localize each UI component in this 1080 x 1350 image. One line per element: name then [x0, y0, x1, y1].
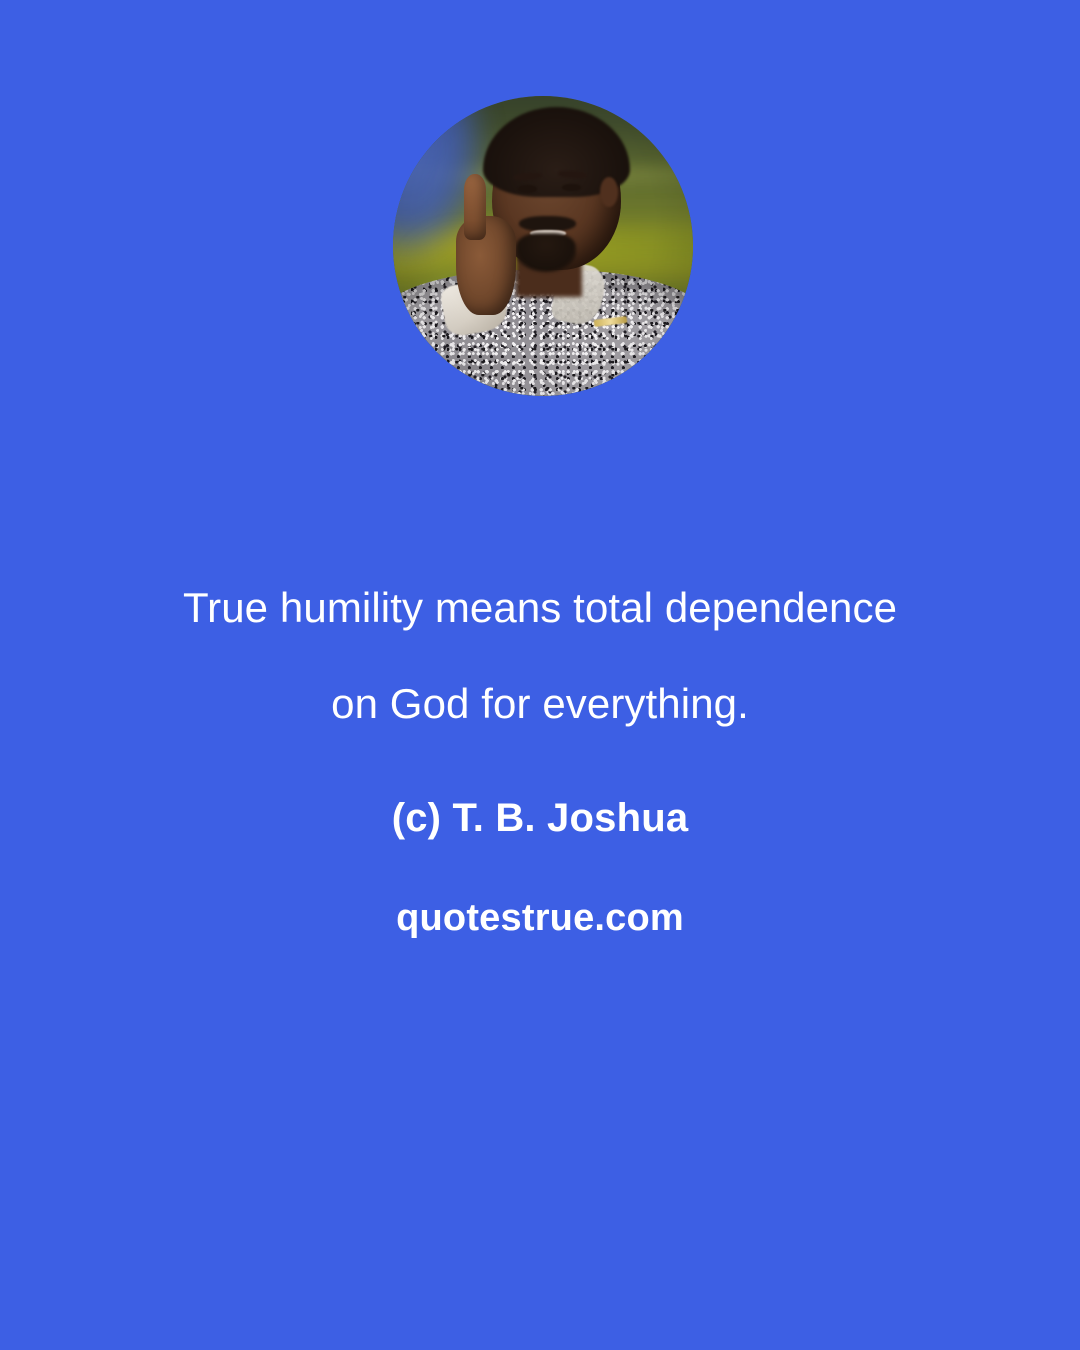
eye-left	[518, 185, 537, 193]
quote-attribution: (c) T. B. Joshua	[0, 752, 1080, 841]
portrait-image	[393, 96, 693, 396]
ear	[600, 177, 618, 207]
quote-line-1: True humility means total dependence	[0, 560, 1080, 656]
quote-line-2: on God for everything.	[0, 656, 1080, 752]
portrait-avatar	[393, 96, 693, 396]
pointing-finger	[464, 174, 487, 240]
quote-text-block: True humility means total dependence on …	[0, 560, 1080, 940]
beard	[516, 233, 576, 272]
site-url[interactable]: quotestrue.com	[0, 841, 1080, 940]
quote-card: True humility means total dependence on …	[0, 0, 1080, 1350]
